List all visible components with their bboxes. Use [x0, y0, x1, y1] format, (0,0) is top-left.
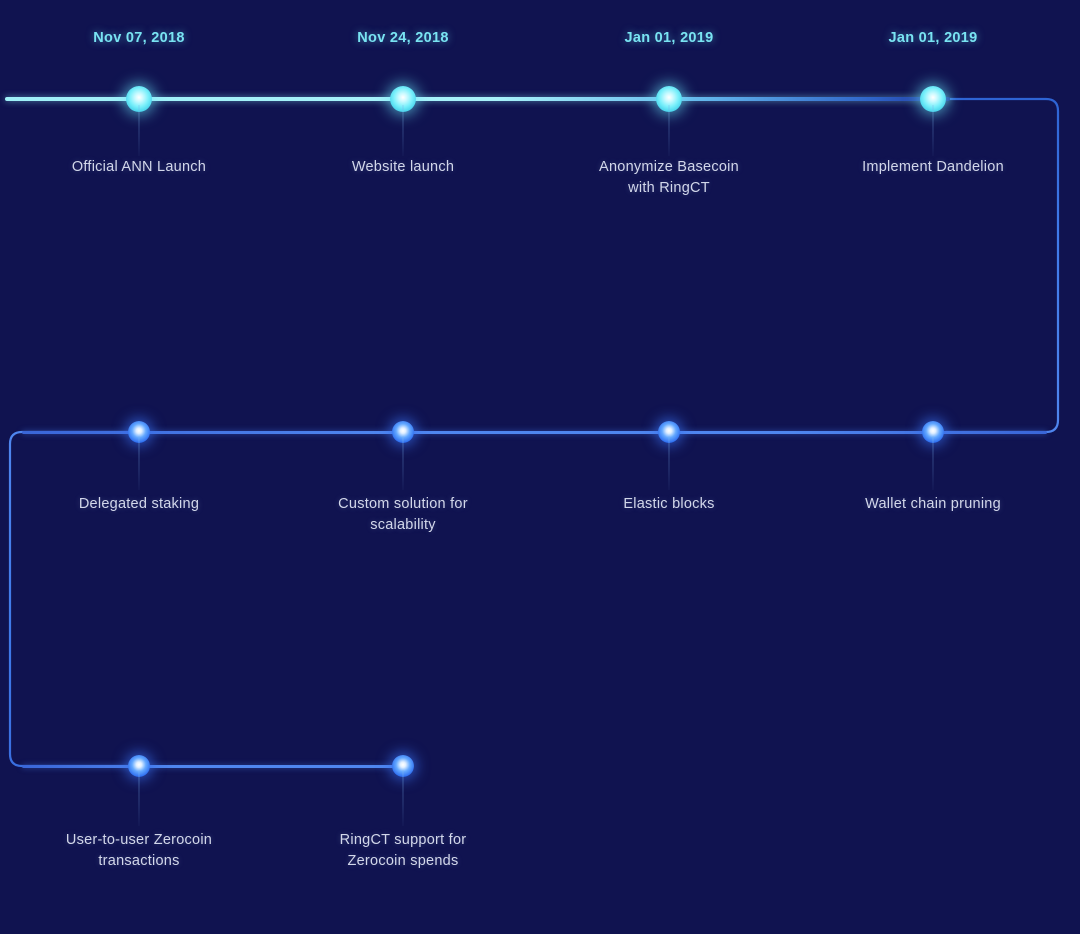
milestone-dot-wrap	[813, 85, 1053, 113]
milestone-dot-wrap	[283, 85, 523, 113]
milestone-label-line: transactions	[19, 851, 259, 872]
milestone-row3-col1[interactable]: User-to-user Zerocoin transactions	[19, 752, 259, 872]
milestone-label: Elastic blocks	[549, 494, 789, 515]
milestone-stem	[403, 105, 404, 156]
milestone-row2-col1[interactable]: Delegated staking	[19, 418, 259, 515]
milestone-dot-wrap	[283, 752, 523, 780]
milestone-stem	[933, 436, 934, 490]
milestone-dot-wrap	[283, 418, 523, 446]
milestone-label-line: Elastic blocks	[549, 494, 789, 515]
milestone-row1-col1[interactable]: Nov 07, 2018 Official ANN Launch	[19, 30, 259, 178]
milestone-label-line: Custom solution for	[283, 494, 523, 515]
milestone-row1-col2[interactable]: Nov 24, 2018 Website launch	[283, 30, 523, 178]
milestone-stem	[669, 436, 670, 490]
milestone-row1-col3[interactable]: Jan 01, 2019 Anonymize Basecoin with Rin…	[549, 30, 789, 199]
milestone-stem	[403, 770, 404, 826]
milestone-label-line: Anonymize Basecoin	[549, 157, 789, 178]
milestone-label-line: Delegated staking	[19, 494, 259, 515]
milestone-date: Nov 07, 2018	[19, 30, 259, 46]
milestone-dot-wrap	[19, 752, 259, 780]
milestone-label: Delegated staking	[19, 494, 259, 515]
milestone-dot-wrap	[549, 418, 789, 446]
roadmap-timeline: Nov 07, 2018 Official ANN Launch Nov 24,…	[0, 0, 1080, 934]
milestone-dot-wrap	[549, 85, 789, 113]
milestone-label-line: Implement Dandelion	[813, 157, 1053, 178]
milestone-stem	[933, 105, 934, 156]
milestone-label: Wallet chain pruning	[813, 494, 1053, 515]
milestone-label: Website launch	[283, 157, 523, 178]
milestone-row1-col4[interactable]: Jan 01, 2019 Implement Dandelion	[813, 30, 1053, 178]
milestone-label-line: Wallet chain pruning	[813, 494, 1053, 515]
milestone-label: User-to-user Zerocoin transactions	[19, 830, 259, 872]
milestone-dot-wrap	[19, 418, 259, 446]
milestone-stem	[139, 436, 140, 490]
milestone-label-line: Zerocoin spends	[283, 851, 523, 872]
milestone-date: Nov 24, 2018	[283, 30, 523, 46]
milestone-label-line: Website launch	[283, 157, 523, 178]
milestone-row2-col3[interactable]: Elastic blocks	[549, 418, 789, 515]
milestone-stem	[139, 770, 140, 826]
milestone-stem	[669, 105, 670, 156]
milestone-label-line: with RingCT	[549, 178, 789, 199]
milestone-row3-col2[interactable]: RingCT support for Zerocoin spends	[283, 752, 523, 872]
milestone-label: Implement Dandelion	[813, 157, 1053, 178]
milestone-row2-col4[interactable]: Wallet chain pruning	[813, 418, 1053, 515]
milestone-label: RingCT support for Zerocoin spends	[283, 830, 523, 872]
milestone-label: Custom solution for scalability	[283, 494, 523, 536]
milestone-date: Jan 01, 2019	[813, 30, 1053, 46]
milestone-label-line: Official ANN Launch	[19, 157, 259, 178]
milestone-label: Anonymize Basecoin with RingCT	[549, 157, 789, 199]
milestone-label: Official ANN Launch	[19, 157, 259, 178]
milestone-row2-col2[interactable]: Custom solution for scalability	[283, 418, 523, 536]
milestone-label-line: RingCT support for	[283, 830, 523, 851]
milestone-label-line: scalability	[283, 515, 523, 536]
milestone-dot-wrap	[813, 418, 1053, 446]
milestone-dot-wrap	[19, 85, 259, 113]
milestone-stem	[403, 436, 404, 490]
milestone-label-line: User-to-user Zerocoin	[19, 830, 259, 851]
milestone-date: Jan 01, 2019	[549, 30, 789, 46]
milestone-stem	[139, 105, 140, 156]
